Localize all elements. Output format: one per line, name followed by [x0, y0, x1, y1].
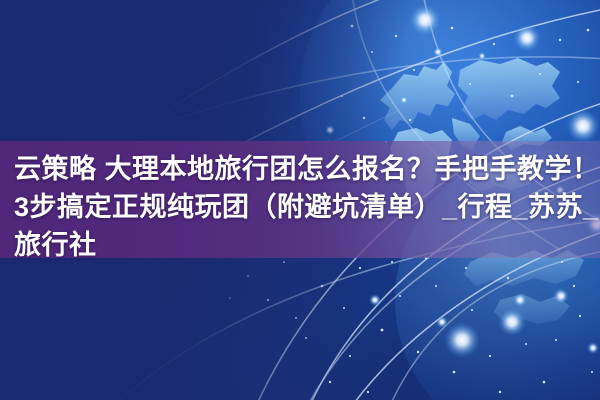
cover-caption-text: 云策略 大理本地旅行团怎么报名？手把手教学！3步搞定正规纯玩团（附避坑清单）_行…: [14, 150, 600, 264]
banner-image: 云策略 大理本地旅行团怎么报名？手把手教学！3步搞定正规纯玩团（附避坑清单）_行…: [0, 0, 600, 400]
